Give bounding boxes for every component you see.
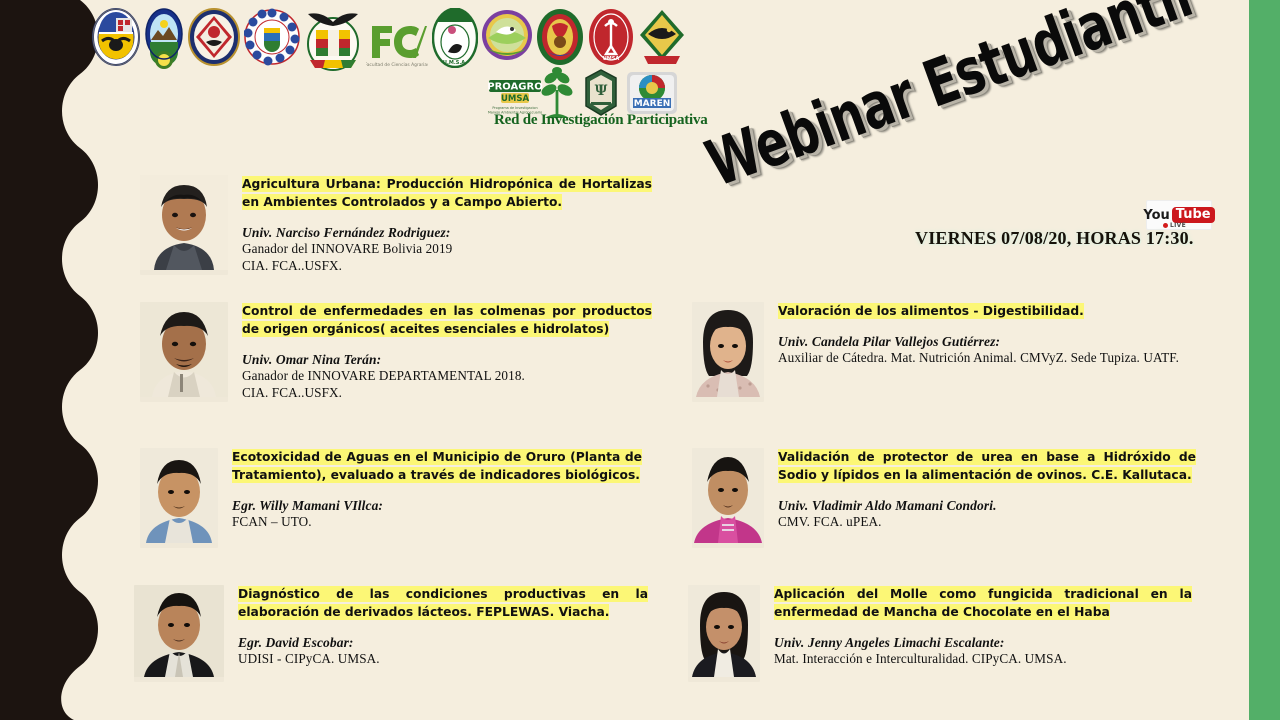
- fca-logo-icon: Facultad de Ciencias Agrarias: [366, 14, 428, 70]
- speaker-name: Egr. David Escobar:: [238, 634, 648, 651]
- talk-title: Ecotoxicidad de Aguas en el Municipio de…: [232, 448, 642, 484]
- speaker-photo-willy-mamani: [140, 448, 218, 548]
- talk-title: Valoración de los alimentos - Digestibil…: [778, 302, 1196, 320]
- speaker-photo-david-escobar: [134, 585, 224, 682]
- speaker-photo-candela-vallejos: [692, 302, 764, 402]
- svg-text:Ψ: Ψ: [595, 83, 608, 99]
- date-time-banner: VIERNES 07/08/20, HORAS 17:30.: [915, 228, 1194, 249]
- talk-title: Control de enfermedades en las colmenas …: [242, 302, 652, 338]
- speaker-entry: Control de enfermedades en las colmenas …: [140, 302, 660, 402]
- uto-seal-icon: [144, 8, 184, 70]
- speaker-detail: CMV. FCA. uPEA.: [778, 514, 1196, 531]
- youtube-tube-label: Tube: [1172, 207, 1215, 223]
- talk-title: Aplicación del Molle como fungicida trad…: [774, 585, 1192, 621]
- svg-text:Facultad de Ciencias Agrarias: Facultad de Ciencias Agrarias: [366, 62, 428, 68]
- uagrm-seal-icon: [244, 8, 300, 66]
- facultad-agricola-seal-icon: [482, 8, 532, 62]
- svg-text:U.M.S.A.: U.M.S.A.: [443, 60, 467, 66]
- date-time-text: VIERNES 07/08/20, HORAS 17:30.: [915, 228, 1194, 248]
- speaker-detail: CIA. FCA..USFX.: [242, 258, 652, 275]
- svg-text:Programa de Investigacion: Programa de Investigacion: [492, 106, 537, 110]
- speaker-entry: Diagnóstico de las condiciones productiv…: [134, 585, 654, 682]
- svg-text:PROAGRO: PROAGRO: [487, 82, 542, 93]
- speaker-entry: Agricultura Urbana: Producción Hidropóni…: [140, 175, 660, 275]
- speaker-entry: Validación de protector de urea en base …: [692, 448, 1222, 548]
- speaker-detail: CIA. FCA..USFX.: [242, 385, 652, 402]
- talk-title: Validación de protector de urea en base …: [778, 448, 1196, 484]
- uatf-seal-icon: [304, 8, 362, 74]
- speaker-name: Univ. Omar Nina Terán:: [242, 351, 652, 368]
- svg-text:UMSA: UMSA: [501, 94, 529, 104]
- speaker-name: Univ. Jenny Angeles Limachi Escalante:: [774, 634, 1192, 651]
- speaker-detail: Auxiliar de Cátedra. Mat. Nutrición Anim…: [778, 350, 1196, 367]
- speaker-detail: Ganador del INNOVARE Bolivia 2019: [242, 241, 652, 258]
- talk-title: Agricultura Urbana: Producción Hidropóni…: [242, 175, 652, 211]
- maren-logo-icon: MAREN: [625, 68, 679, 118]
- webinar-poster: Facultad de Ciencias Agrarias U.M.S.A.: [0, 0, 1280, 720]
- speaker-entry: Aplicación del Molle como fungicida trad…: [688, 585, 1218, 682]
- speaker-name: Univ. Candela Pilar Vallejos Gutiérrez:: [778, 333, 1196, 350]
- svg-text:UMSA: UMSA: [603, 56, 620, 62]
- speaker-detail: Mat. Interacción e Interculturalidad. CI…: [774, 651, 1192, 668]
- speaker-detail: UDISI - CIPyCA. UMSA.: [238, 651, 648, 668]
- up-seal-icon: Ψ: [583, 68, 619, 118]
- veterinaria-seal-icon: UMSA: [588, 8, 634, 66]
- speaker-detail: FCAN – UTO.: [232, 514, 642, 531]
- speaker-entry: Valoración de los alimentos - Digestibil…: [692, 302, 1222, 402]
- talk-title: Diagnóstico de las condiciones productiv…: [238, 585, 648, 621]
- umsa-agronomia-seal-icon: U.M.S.A.: [432, 8, 478, 68]
- speaker-entry: Ecotoxicidad de Aguas en el Municipio de…: [140, 448, 660, 548]
- umsa-seal-icon: [92, 8, 140, 66]
- upea-seal-icon: [638, 8, 686, 70]
- uto-facultad-seal-icon: [536, 8, 584, 66]
- speaker-photo-omar-nina: [140, 302, 228, 402]
- page-title: Webinar Estudiantil: [697, 0, 1280, 202]
- speaker-photo-jenny-limachi: [688, 585, 760, 682]
- youtube-you-label: You: [1143, 209, 1169, 222]
- speaker-detail: Ganador de INNOVARE DEPARTAMENTAL 2018.: [242, 368, 652, 385]
- page-title-text: Webinar Estudiantil: [697, 0, 1200, 202]
- speaker-photo-vladimir-mamani: [692, 448, 764, 548]
- logos-row: Facultad de Ciencias Agrarias U.M.S.A.: [92, 8, 692, 128]
- speaker-name: Egr. Willy Mamani VIllca:: [232, 497, 642, 514]
- usfx-seal-icon: [188, 8, 240, 66]
- speaker-name: Univ. Vladimir Aldo Mamani Condori.: [778, 497, 1196, 514]
- speaker-photo-narciso-fernandez: [140, 175, 228, 275]
- speaker-name: Univ. Narciso Fernández Rodriguez:: [242, 224, 652, 241]
- svg-text:MAREN: MAREN: [634, 99, 671, 109]
